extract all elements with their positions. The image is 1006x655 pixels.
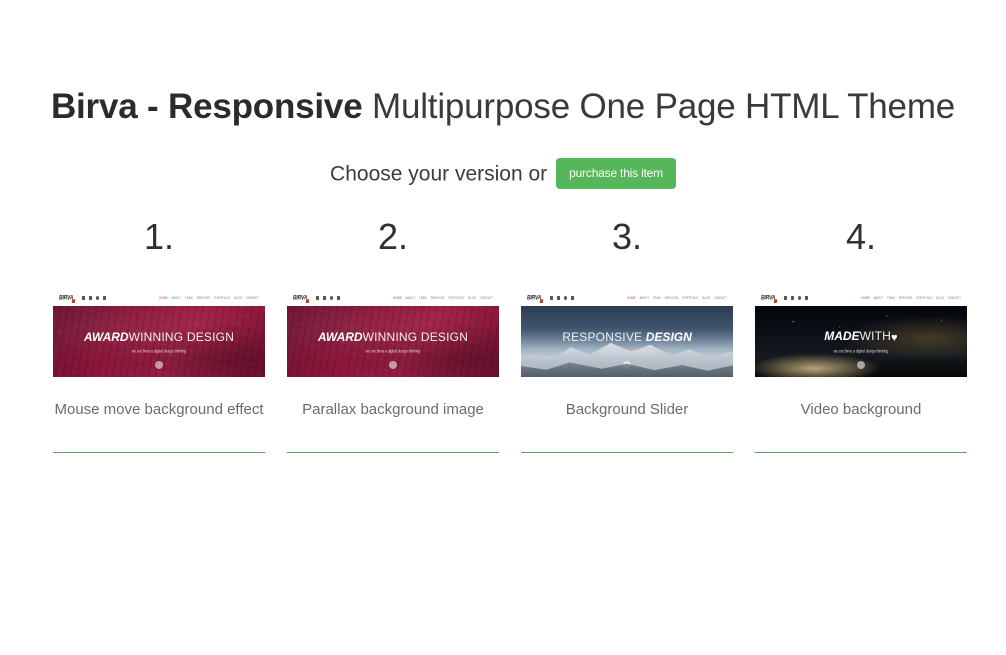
thumb-nav-links: HOME ABOUT TEAM SERVICES PORTFOLIO BLOG … xyxy=(861,296,961,300)
version-card-3[interactable]: 3. BIRVA HOME ABOUT TEAM SERVICES PORTFO… xyxy=(521,214,733,453)
social-icons xyxy=(550,296,574,300)
nav-link-about: ABOUT xyxy=(640,296,649,300)
hero-subtitle: we are birva a digital design thinking xyxy=(600,347,655,355)
version-card-list: 1. BIRVA HOME ABOUT TEAM SERVICES PORTFO… xyxy=(53,214,967,453)
hero-title-bold: AWARD xyxy=(318,330,363,344)
hero-background: RESPONSIVE DESIGN we are birva a digital… xyxy=(521,306,733,377)
nav-link-about: ABOUT xyxy=(406,296,415,300)
dribbble-icon xyxy=(96,296,99,300)
nav-link-team: TEAM xyxy=(653,296,661,300)
nav-link-services: SERVICES xyxy=(431,296,445,300)
thumb-navbar: BIRVA HOME ABOUT TEAM SERVICES PORTFOLIO… xyxy=(755,290,967,306)
hero-title: MADEWITH♥ xyxy=(824,329,898,344)
pinterest-icon xyxy=(571,296,574,300)
page-title: Birva - Responsive Multipurpose One Page… xyxy=(0,84,1006,130)
card-number: 1. xyxy=(53,214,265,260)
card-caption: Background Slider xyxy=(521,397,733,422)
hero-subtitle: we are birva a digital design thinking xyxy=(834,347,889,355)
nav-link-blog: BLOG xyxy=(234,296,242,300)
page-title-strong: Birva - Responsive xyxy=(51,87,363,126)
nav-link-contact: CONTACT xyxy=(714,296,727,300)
thumb-navbar: BIRVA HOME ABOUT TEAM SERVICES PORTFOLIO… xyxy=(521,290,733,306)
scroll-down-icon xyxy=(155,361,163,369)
facebook-icon xyxy=(550,296,553,300)
nav-link-team: TEAM xyxy=(887,296,895,300)
nav-link-services: SERVICES xyxy=(197,296,211,300)
thumbnail-preview[interactable]: BIRVA HOME ABOUT TEAM SERVICES PORTFOLIO… xyxy=(521,290,733,377)
nav-link-portfolio: PORTFOLIO xyxy=(215,296,231,300)
hero-title-bold: MADE xyxy=(824,329,859,343)
card-caption: Parallax background image xyxy=(287,397,499,422)
hero-title: AWARDWINNING DESIGN xyxy=(84,330,234,344)
nav-link-portfolio: PORTFOLIO xyxy=(917,296,933,300)
twitter-icon xyxy=(323,296,326,300)
thumb-navbar: BIRVA HOME ABOUT TEAM SERVICES PORTFOLIO… xyxy=(53,290,265,306)
social-icons xyxy=(82,296,106,300)
dribbble-icon xyxy=(564,296,567,300)
hero-subtitle: we are birva a digital design thinking xyxy=(366,347,421,355)
version-card-2[interactable]: 2. BIRVA HOME ABOUT TEAM SERVICES PORTFO… xyxy=(287,214,499,453)
hero-title: RESPONSIVE DESIGN xyxy=(562,330,692,344)
hero-title-light: RESPONSIVE xyxy=(562,330,646,344)
thumbnail-preview[interactable]: BIRVA HOME ABOUT TEAM SERVICES PORTFOLIO… xyxy=(53,290,265,377)
hero-title-bold: DESIGN xyxy=(646,330,692,344)
card-divider xyxy=(755,452,967,453)
nav-link-home: HOME xyxy=(159,296,167,300)
facebook-icon xyxy=(82,296,85,300)
card-divider xyxy=(287,452,499,453)
scroll-down-icon xyxy=(623,361,631,369)
social-icons xyxy=(316,296,340,300)
birva-logo: BIRVA xyxy=(293,294,307,302)
dribbble-icon xyxy=(798,296,801,300)
card-number: 3. xyxy=(521,214,733,260)
birva-logo: BIRVA xyxy=(761,294,775,302)
nav-link-contact: CONTACT xyxy=(948,296,961,300)
nav-link-home: HOME xyxy=(627,296,635,300)
pinterest-icon xyxy=(337,296,340,300)
nav-link-team: TEAM xyxy=(185,296,193,300)
version-card-4[interactable]: 4. BIRVA HOME ABOUT TEAM SERVICES PORTFO… xyxy=(755,214,967,453)
purchase-button[interactable]: purchase this item xyxy=(556,158,676,189)
card-number: 2. xyxy=(287,214,499,260)
birva-logo: BIRVA xyxy=(59,294,73,302)
hero-background: AWARDWINNING DESIGN we are birva a digit… xyxy=(287,306,499,377)
subtitle-text: Choose your version or xyxy=(330,163,547,186)
hero-background: AWARDWINNING DESIGN we are birva a digit… xyxy=(53,306,265,377)
nav-link-portfolio: PORTFOLIO xyxy=(449,296,465,300)
thumb-nav-links: HOME ABOUT TEAM SERVICES PORTFOLIO BLOG … xyxy=(627,296,727,300)
hero-title-light: WITH xyxy=(860,329,891,343)
scroll-down-icon xyxy=(857,361,865,369)
card-number: 4. xyxy=(755,214,967,260)
social-icons xyxy=(784,296,808,300)
nav-link-home: HOME xyxy=(393,296,401,300)
nav-link-home: HOME xyxy=(861,296,869,300)
dribbble-icon xyxy=(330,296,333,300)
nav-link-portfolio: PORTFOLIO xyxy=(683,296,699,300)
version-card-1[interactable]: 1. BIRVA HOME ABOUT TEAM SERVICES PORTFO… xyxy=(53,214,265,453)
pinterest-icon xyxy=(805,296,808,300)
nav-link-contact: CONTACT xyxy=(480,296,493,300)
scroll-down-icon xyxy=(389,361,397,369)
card-divider xyxy=(521,452,733,453)
hero-title-bold: AWARD xyxy=(84,330,129,344)
twitter-icon xyxy=(791,296,794,300)
thumb-nav-links: HOME ABOUT TEAM SERVICES PORTFOLIO BLOG … xyxy=(159,296,259,300)
thumbnail-preview[interactable]: BIRVA HOME ABOUT TEAM SERVICES PORTFOLIO… xyxy=(755,290,967,377)
facebook-icon xyxy=(316,296,319,300)
pinterest-icon xyxy=(103,296,106,300)
nav-link-blog: BLOG xyxy=(936,296,944,300)
heart-icon: ♥ xyxy=(891,332,898,344)
page-root: Birva - Responsive Multipurpose One Page… xyxy=(0,0,1006,655)
nav-link-contact: CONTACT xyxy=(246,296,259,300)
nav-link-blog: BLOG xyxy=(468,296,476,300)
hero-title-light: WINNING DESIGN xyxy=(363,330,468,344)
thumb-nav-links: HOME ABOUT TEAM SERVICES PORTFOLIO BLOG … xyxy=(393,296,493,300)
facebook-icon xyxy=(784,296,787,300)
hero-background: MADEWITH♥ we are birva a digital design … xyxy=(755,306,967,377)
birva-logo: BIRVA xyxy=(527,294,541,302)
twitter-icon xyxy=(89,296,92,300)
page-title-rest: Multipurpose One Page HTML Theme xyxy=(362,87,955,126)
nav-link-about: ABOUT xyxy=(172,296,181,300)
subtitle-row: Choose your version orpurchase this item xyxy=(0,159,1006,190)
nav-link-about: ABOUT xyxy=(874,296,883,300)
thumbnail-preview[interactable]: BIRVA HOME ABOUT TEAM SERVICES PORTFOLIO… xyxy=(287,290,499,377)
nav-link-services: SERVICES xyxy=(665,296,679,300)
twitter-icon xyxy=(557,296,560,300)
hero-title: AWARDWINNING DESIGN xyxy=(318,330,468,344)
card-caption: Video background xyxy=(755,397,967,422)
card-divider xyxy=(53,452,265,453)
nav-link-team: TEAM xyxy=(419,296,427,300)
thumb-navbar: BIRVA HOME ABOUT TEAM SERVICES PORTFOLIO… xyxy=(287,290,499,306)
nav-link-services: SERVICES xyxy=(899,296,913,300)
hero-title-light: WINNING DESIGN xyxy=(129,330,234,344)
card-caption: Mouse move background effect xyxy=(53,397,265,422)
hero-subtitle: we are birva a digital design thinking xyxy=(132,347,187,355)
nav-link-blog: BLOG xyxy=(702,296,710,300)
